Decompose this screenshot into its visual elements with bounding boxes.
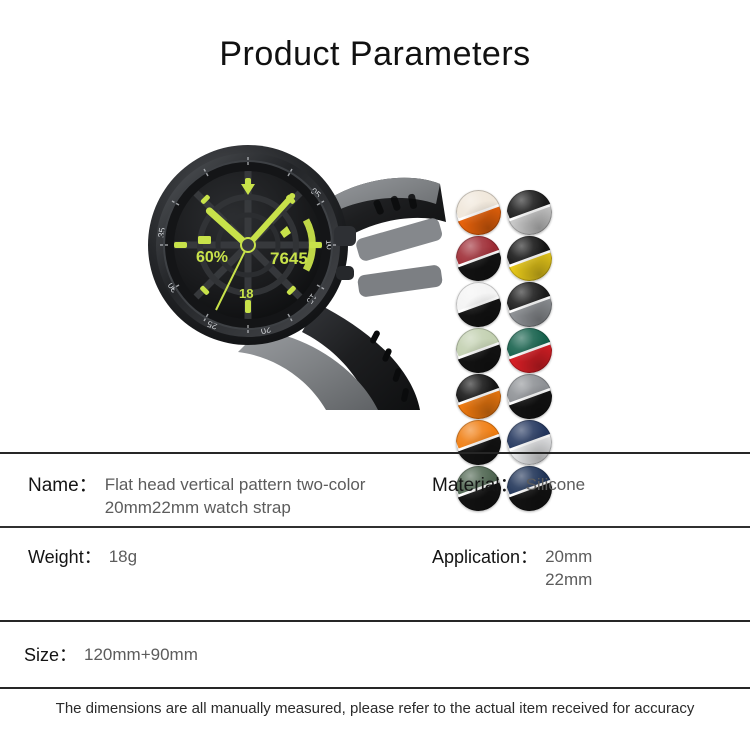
specification-table: Name： Flat head vertical pattern two-col…: [0, 452, 750, 689]
table-divider-bottom: [0, 687, 750, 689]
swatch-4[interactable]: [456, 282, 501, 327]
swatch-rim: [456, 374, 501, 419]
swatch-0[interactable]: [456, 190, 501, 235]
svg-text:10: 10: [324, 239, 335, 250]
spec-cell-material: Material： Silicone: [420, 454, 750, 498]
spec-value-application: 20mm 22mm: [538, 546, 592, 592]
swatch-rim: [507, 190, 552, 235]
measurement-disclaimer: The dimensions are all manually measured…: [0, 700, 750, 717]
swatch-5[interactable]: [507, 282, 552, 327]
swatch-rim: [507, 236, 552, 281]
swatch-rim: [507, 328, 552, 373]
svg-text:7645: 7645: [270, 249, 308, 268]
spec-label-application: Application：: [432, 546, 538, 569]
spec-label-weight: Weight：: [28, 546, 102, 569]
spec-cell-application: Application： 20mm 22mm: [420, 528, 750, 592]
swatch-rim: [456, 190, 501, 235]
watch-illustration: 05 10 15 20 25 30 35: [120, 80, 450, 410]
swatch-rim: [456, 236, 501, 281]
swatch-rim: [456, 282, 501, 327]
swatch-8[interactable]: [456, 374, 501, 419]
swatch-rim: [507, 374, 552, 419]
spec-value-name: Flat head vertical pattern two-color 20m…: [98, 474, 366, 520]
swatch-3[interactable]: [507, 236, 552, 281]
swatch-9[interactable]: [507, 374, 552, 419]
date-complication: 18: [239, 286, 253, 301]
spec-row-size: Size： 120mm+90mm: [0, 622, 750, 687]
svg-text:60%: 60%: [196, 249, 228, 266]
swatch-1[interactable]: [507, 190, 552, 235]
spec-value-material: Silicone: [519, 474, 586, 497]
swatch-6[interactable]: [456, 328, 501, 373]
spec-cell-weight: Weight： 18g: [0, 528, 420, 569]
product-image-watch: 05 10 15 20 25 30 35: [120, 80, 450, 410]
watch-dial: 60% 7645 18: [174, 171, 322, 319]
spec-label-size: Size：: [24, 644, 77, 667]
product-hero: 05 10 15 20 25 30 35: [0, 78, 750, 426]
spec-row-weight: Weight： 18g Application： 20mm 22mm: [0, 528, 750, 620]
swatch-7[interactable]: [507, 328, 552, 373]
page-title: Product Parameters: [0, 0, 750, 78]
spec-label-material: Material：: [432, 474, 519, 498]
spec-cell-size: Size： 120mm+90mm: [0, 622, 750, 667]
spec-cell-name: Name： Flat head vertical pattern two-col…: [0, 454, 420, 520]
swatch-2[interactable]: [456, 236, 501, 281]
spec-value-size: 120mm+90mm: [77, 644, 198, 667]
swatch-rim: [456, 328, 501, 373]
spec-value-weight: 18g: [102, 546, 137, 569]
spec-row-name: Name： Flat head vertical pattern two-col…: [0, 454, 750, 526]
spec-label-name: Name：: [28, 474, 98, 498]
swatch-rim: [507, 282, 552, 327]
